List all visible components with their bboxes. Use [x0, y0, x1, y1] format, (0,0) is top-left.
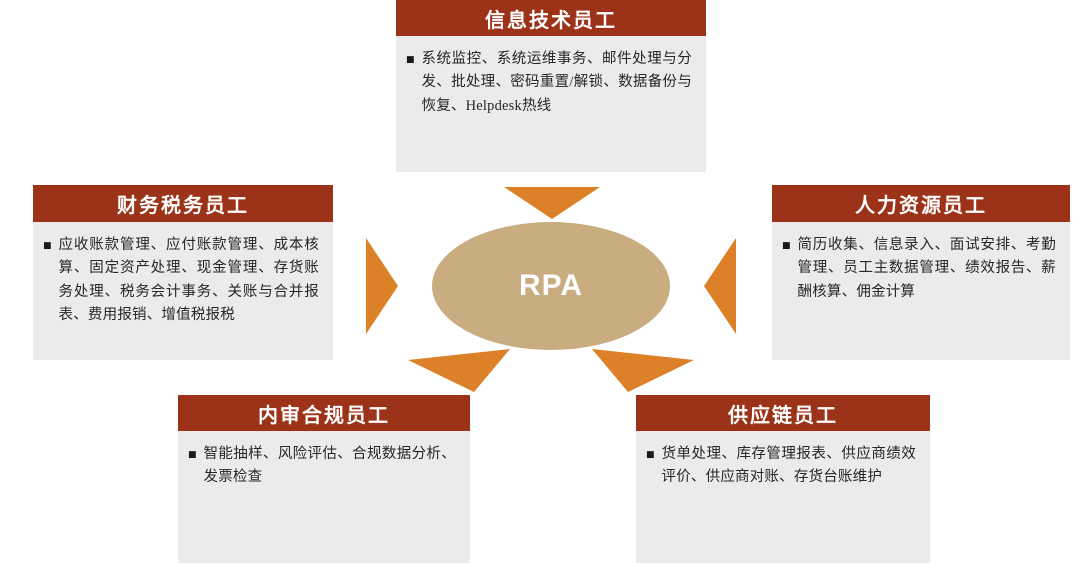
bullet-icon: ■ — [782, 242, 791, 251]
panel-supply: 供应链员工 ■ 货单处理、库存管理报表、供应商绩效评价、供应商对账、存货台账维护 — [636, 395, 930, 563]
panel-hr-text: 简历收集、信息录入、面试安排、考勤管理、员工主数据管理、绩效报告、薪酬核算、佣金… — [798, 234, 1056, 304]
rpa-diagram-canvas: 信息技术员工 ■ 系统监控、系统运维事务、邮件处理与分发、批处理、密码重置/解锁… — [0, 0, 1080, 568]
bullet-icon: ■ — [188, 451, 197, 460]
panel-hr: 人力资源员工 ■ 简历收集、信息录入、面试安排、考勤管理、员工主数据管理、绩效报… — [772, 185, 1070, 360]
panel-supply-body: ■ 货单处理、库存管理报表、供应商绩效评价、供应商对账、存货台账维护 — [636, 431, 930, 563]
panel-finance-text: 应收账款管理、应付账款管理、成本核算、固定资产处理、现金管理、存货账务处理、税务… — [59, 234, 319, 328]
bullet-icon: ■ — [646, 451, 655, 460]
panel-hr-title: 人力资源员工 — [772, 185, 1070, 222]
center-node-label: RPA — [519, 269, 583, 303]
panel-supply-text: 货单处理、库存管理报表、供应商绩效评价、供应商对账、存货台账维护 — [662, 443, 916, 490]
panel-hr-body: ■ 简历收集、信息录入、面试安排、考勤管理、员工主数据管理、绩效报告、薪酬核算、… — [772, 222, 1070, 360]
panel-it: 信息技术员工 ■ 系统监控、系统运维事务、邮件处理与分发、批处理、密码重置/解锁… — [396, 0, 706, 172]
center-node-rpa: RPA — [432, 222, 670, 350]
arrow-down-icon — [504, 187, 600, 219]
panel-audit: 内审合规员工 ■ 智能抽样、风险评估、合规数据分析、发票检查 — [178, 395, 470, 563]
panel-it-body: ■ 系统监控、系统运维事务、邮件处理与分发、批处理、密码重置/解锁、数据备份与恢… — [396, 36, 706, 172]
panel-supply-title: 供应链员工 — [636, 395, 930, 431]
panel-audit-body: ■ 智能抽样、风险评估、合规数据分析、发票检查 — [178, 431, 470, 563]
panel-finance-title: 财务税务员工 — [33, 185, 333, 222]
panel-finance-body: ■ 应收账款管理、应付账款管理、成本核算、固定资产处理、现金管理、存货账务处理、… — [33, 222, 333, 360]
panel-it-text: 系统监控、系统运维事务、邮件处理与分发、批处理、密码重置/解锁、数据备份与恢复、… — [422, 48, 692, 118]
arrow-right-icon — [366, 238, 398, 334]
panel-it-title: 信息技术员工 — [396, 0, 706, 36]
panel-audit-title: 内审合规员工 — [178, 395, 470, 431]
arrow-down-left-icon — [408, 346, 510, 392]
arrow-down-right-icon — [592, 346, 694, 392]
panel-audit-text: 智能抽样、风险评估、合规数据分析、发票检查 — [204, 443, 456, 490]
panel-finance: 财务税务员工 ■ 应收账款管理、应付账款管理、成本核算、固定资产处理、现金管理、… — [33, 185, 333, 360]
bullet-icon: ■ — [43, 242, 52, 251]
arrow-left-icon — [704, 238, 736, 334]
bullet-icon: ■ — [406, 56, 415, 65]
